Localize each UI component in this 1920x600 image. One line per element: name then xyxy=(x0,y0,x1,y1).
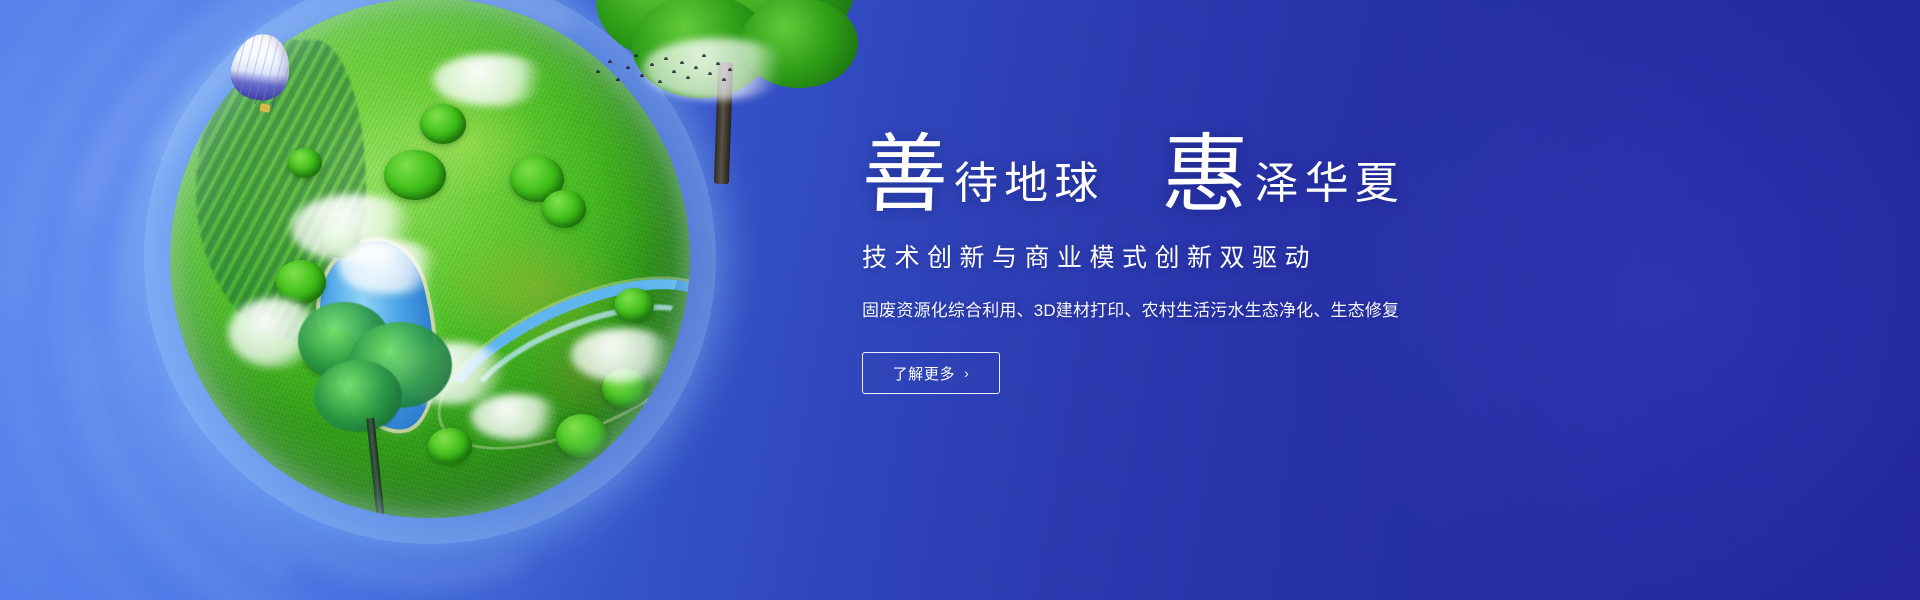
chevron-right-icon: › xyxy=(964,365,969,381)
balloon-basket xyxy=(259,103,270,113)
headline-char-1: 善 xyxy=(860,132,949,218)
headline-part-2: 泽华夏 xyxy=(1254,162,1404,206)
tree-icon xyxy=(288,298,478,518)
bird-flock-icon xyxy=(592,50,732,96)
cloud-shape xyxy=(338,240,442,294)
bush xyxy=(556,414,608,458)
cloud-shape xyxy=(470,394,562,440)
hero-banner: 善 待地球 惠 泽华夏 技术创新与商业模式创新双驱动 固废资源化综合利用、3D建… xyxy=(0,0,1920,600)
tree-icon xyxy=(590,0,860,192)
bush xyxy=(420,104,466,144)
cloud-shape xyxy=(432,54,550,106)
cloud-shape xyxy=(570,328,676,382)
banner-description: 固废资源化综合利用、3D建材打印、农村生活污水生态净化、生态修复 xyxy=(862,296,1622,321)
learn-more-label: 了解更多 xyxy=(893,363,955,384)
learn-more-button[interactable]: 了解更多 › xyxy=(862,352,1000,394)
page-title: 善 待地球 惠 泽华夏 xyxy=(862,126,1622,212)
bush xyxy=(614,288,654,322)
bush xyxy=(542,190,586,228)
banner-copy: 善 待地球 惠 泽华夏 技术创新与商业模式创新双驱动 固废资源化综合利用、3D建… xyxy=(862,126,1622,394)
balloon-envelope xyxy=(226,29,296,106)
bush xyxy=(384,150,446,200)
headline-part-1: 待地球 xyxy=(954,162,1104,206)
hot-air-balloon-icon xyxy=(232,34,290,126)
headline-char-2: 惠 xyxy=(1161,132,1250,218)
banner-subtitle: 技术创新与商业模式创新双驱动 xyxy=(862,238,1622,274)
bush xyxy=(288,148,322,178)
